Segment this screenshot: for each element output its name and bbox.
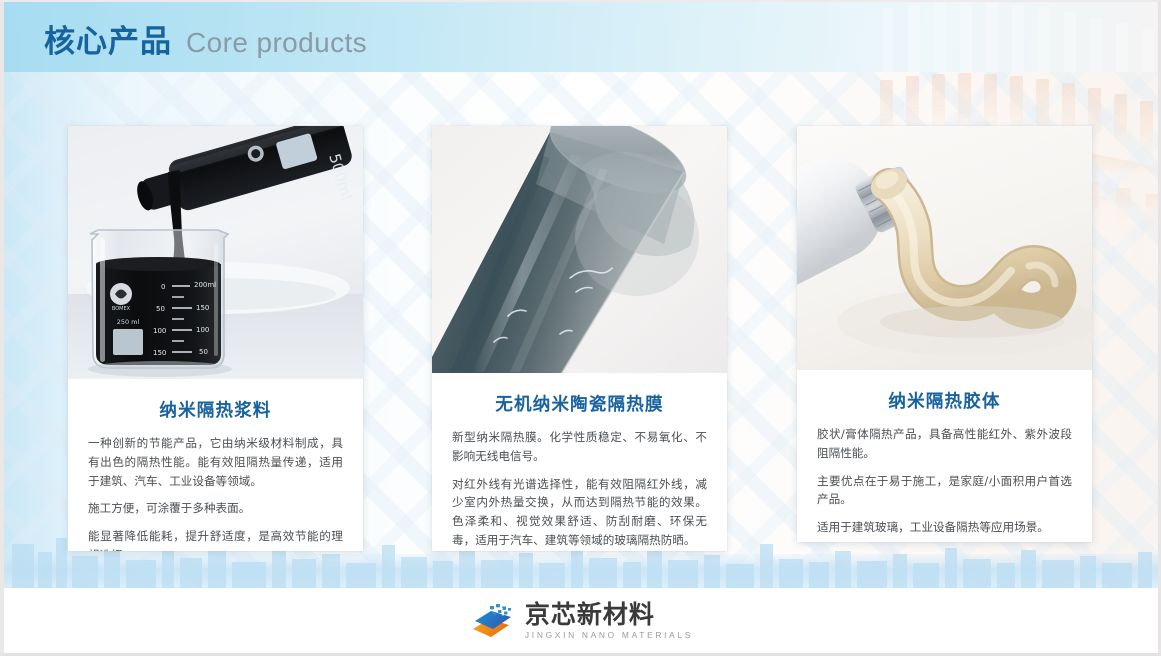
- svg-text:100: 100: [196, 326, 209, 334]
- product-card-inorganic-nano-ceramic-film[interactable]: 无机纳米陶瓷隔热膜 新型纳米隔热膜。化学性质稳定、不易氧化、不影响无线电信号。 …: [432, 126, 727, 551]
- product-image-beaker-black-liquid-pouring: 500ml: [68, 126, 363, 379]
- svg-text:50: 50: [156, 305, 165, 313]
- product-card-body: 无机纳米陶瓷隔热膜 新型纳米隔热膜。化学性质稳定、不易氧化、不影响无线电信号。 …: [432, 373, 727, 551]
- product-card-nano-insulation-slurry[interactable]: 500ml: [68, 126, 363, 551]
- svg-text:100: 100: [153, 327, 166, 335]
- svg-text:0: 0: [161, 283, 165, 291]
- company-logo: 京芯新材料 JINGXIN NANO MATERIALS: [469, 601, 693, 641]
- product-paragraph: 新型纳米隔热膜。化学性质稳定、不易氧化、不影响无线电信号。: [452, 428, 707, 466]
- svg-text:200ml: 200ml: [194, 281, 216, 289]
- product-card-grid: 500ml: [0, 0, 1161, 656]
- product-paragraph: 对红外线有光谱选择性，能有效阻隔红外线，减少室内外热量交换，从而达到隔热节能的效…: [452, 475, 707, 550]
- svg-text:150: 150: [196, 304, 209, 312]
- product-card-body: 纳米隔热胶体 胶状/膏体隔热产品，具备高性能红外、紫外波段阻隔性能。 主要优点在…: [797, 370, 1092, 542]
- svg-text:150: 150: [153, 349, 166, 357]
- svg-text:50: 50: [199, 348, 208, 356]
- product-paragraph: 一种创新的节能产品，它由纳米级材料制成，具有出色的隔热性能。能有效阻隔热量传递，…: [88, 434, 343, 490]
- product-paragraph: 施工方便，可涂覆于多种表面。: [88, 499, 343, 518]
- product-paragraph: 胶状/膏体隔热产品，具备高性能红外、紫外波段阻隔性能。: [817, 425, 1072, 463]
- product-card-nano-insulation-colloid[interactable]: 纳米隔热胶体 胶状/膏体隔热产品，具备高性能红外、紫外波段阻隔性能。 主要优点在…: [797, 126, 1092, 542]
- product-paragraph: 能显著降低能耗，提升舒适度，是高效节能的理想选择。: [88, 527, 343, 551]
- company-name-cn: 京芯新材料: [525, 602, 693, 627]
- product-paragraph: 主要优点在于易于施工，是家庭/小面积用户首选产品。: [817, 472, 1072, 510]
- product-paragraph: 适用于建筑玻璃，工业设备隔热等应用场景。: [817, 518, 1072, 537]
- company-name-en: JINGXIN NANO MATERIALS: [525, 631, 693, 639]
- product-card-body: 纳米隔热浆料 一种创新的节能产品，它由纳米级材料制成，具有出色的隔热性能。能有效…: [68, 379, 363, 551]
- slide-footer: 京芯新材料 JINGXIN NANO MATERIALS: [4, 588, 1158, 653]
- product-title: 纳米隔热浆料: [88, 397, 343, 422]
- product-image-tube-squeezing-cream-paste: [797, 126, 1092, 370]
- product-title: 无机纳米陶瓷隔热膜: [452, 391, 707, 416]
- slide-root: 核心产品 Core products: [0, 0, 1161, 656]
- svg-text:250 ml: 250 ml: [117, 318, 140, 326]
- jingxin-pixel-diamond-logo-icon: [469, 601, 515, 641]
- svg-text:BOMEX: BOMEX: [112, 306, 131, 312]
- company-logo-text: 京芯新材料 JINGXIN NANO MATERIALS: [525, 602, 693, 639]
- product-title: 纳米隔热胶体: [817, 388, 1072, 413]
- product-image-rolled-tinted-window-film: [432, 126, 727, 373]
